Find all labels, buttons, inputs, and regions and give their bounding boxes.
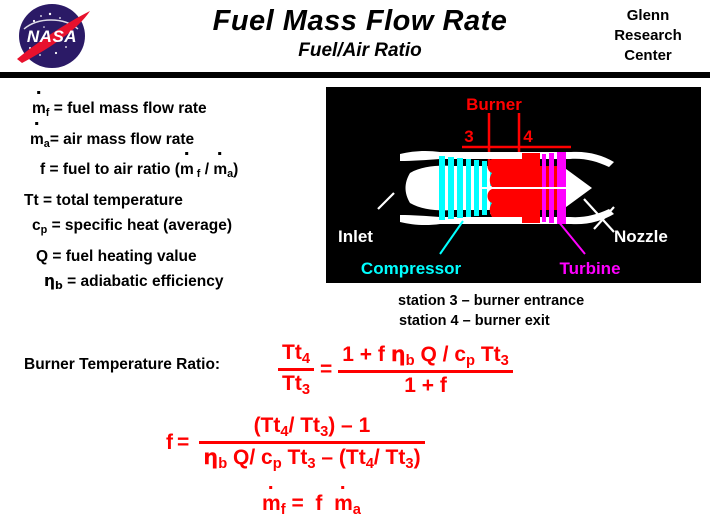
eq1-lhs-numerator: Tt4 <box>278 341 314 367</box>
turbine-leader-line <box>558 221 585 254</box>
turbojet-engine-diagram: Burner 3 4 <box>326 87 701 283</box>
station-4-label: 4 <box>523 127 533 146</box>
definition-row-f: f = fuel to air ratio (m f / ma) <box>18 157 318 188</box>
center-line-1: Glenn <box>590 6 706 26</box>
turbine-blades-lower <box>542 189 566 224</box>
burner-label: Burner <box>466 95 522 114</box>
compressor-label: Compressor <box>361 259 462 278</box>
definition-text-mdot-air: = air mass flow rate <box>50 131 194 148</box>
station-note-4: station 4 – burner exit <box>398 311 698 331</box>
symbol-mdot-air: ma <box>30 127 50 158</box>
header-divider <box>0 72 710 78</box>
definition-text-mdot-fuel: = fuel mass flow rate <box>54 100 207 117</box>
equation-fuel-mass-flow-rate: mf = f ma <box>262 492 361 518</box>
nasa-meatball-logo: NASA <box>8 3 96 69</box>
eq3-equals-sign: = <box>291 492 303 515</box>
definition-row-cp: cp = specific heat (average) <box>18 213 318 244</box>
eq2-equals-sign: = <box>177 431 189 455</box>
eq3-mdot-air-symbol: m <box>334 492 353 516</box>
station-note-3: station 3 – burner entrance <box>398 291 698 311</box>
eq1-lhs-bar <box>278 368 314 371</box>
eq2-lhs-symbol: f <box>166 431 173 455</box>
symbol-q: Q <box>36 244 48 270</box>
station-notes: station 3 – burner entrance station 4 – … <box>398 291 698 331</box>
equation-fuel-air-ratio: f = (Tt4/ Tt3) – 1 ηb Q/ cp Tt3 – (Tt4/ … <box>166 414 425 472</box>
eq1-equals-sign: = <box>320 358 332 382</box>
center-line-2: Research <box>590 26 706 46</box>
definition-text-eta: = adiabatic efficiency <box>67 273 223 290</box>
turbine-label: Turbine <box>559 259 620 278</box>
symbol-tt: Tt <box>24 188 39 214</box>
svg-text:NASA: NASA <box>27 27 77 46</box>
eq2-fraction: (Tt4/ Tt3) – 1 ηb Q/ cp Tt3 – (Tt4/ Tt3) <box>199 414 424 472</box>
eq2-bar <box>199 441 424 444</box>
eq3-mdot-fuel-symbol: m <box>262 492 281 516</box>
eq1-rhs-fraction: 1 + f ηb Q / cp Tt3 1 + f <box>338 342 513 398</box>
eq1-rhs-bar <box>338 370 513 373</box>
eq1-rhs-numerator: 1 + f ηb Q / cp Tt3 <box>338 342 513 369</box>
eq3-rhs-f: f <box>310 492 329 515</box>
symbol-eta-b: ηb <box>44 269 63 299</box>
definition-text-q: = fuel heating value <box>52 248 196 265</box>
turbine-blades-upper <box>542 152 566 187</box>
symbol-f: f <box>40 157 45 183</box>
definition-text-tt: = total temperature <box>43 192 183 209</box>
eq2-denominator: ηb Q/ cp Tt3 – (Tt4/ Tt3) <box>199 445 424 472</box>
definition-row-tt: Tt = total temperature <box>18 188 318 214</box>
eq2-numerator: (Tt4/ Tt3) – 1 <box>199 414 424 440</box>
inlet-leader-line <box>378 193 394 209</box>
definition-text-f: = fuel to air ratio (m f / ma) <box>49 161 238 178</box>
definition-text-cp: = specific heat (average) <box>52 217 233 234</box>
page-title: Fuel Mass Flow Rate <box>150 4 570 38</box>
nomenclature-list: mf = fuel mass flow rate ma= air mass fl… <box>18 96 318 299</box>
nasa-center-name: Glenn Research Center <box>590 6 706 66</box>
eq1-lhs-fraction: Tt4 Tt3 <box>278 341 314 398</box>
definition-row-eta: ηb = adiabatic efficiency <box>18 269 318 299</box>
eq1-lhs-denominator: Tt3 <box>278 372 314 398</box>
definition-row-mdot-fuel: mf = fuel mass flow rate <box>18 96 318 127</box>
title-block: Fuel Mass Flow Rate Fuel/Air Ratio <box>150 4 570 63</box>
nozzle-label: Nozzle <box>614 227 668 246</box>
inlet-label: Inlet <box>338 227 373 246</box>
definition-row-q: Q = fuel heating value <box>18 244 318 270</box>
definition-row-mdot-air: ma= air mass flow rate <box>18 127 318 158</box>
eq1-rhs-denominator: 1 + f <box>338 374 513 398</box>
equation-burner-temperature-ratio: Tt4 Tt3 = 1 + f ηb Q / cp Tt3 1 + f <box>278 341 513 398</box>
page-subtitle: Fuel/Air Ratio <box>150 39 570 63</box>
symbol-cp: cp <box>32 213 47 244</box>
station-3-label: 3 <box>464 127 473 146</box>
burner-temperature-ratio-label: Burner Temperature Ratio: <box>24 356 220 374</box>
center-line-3: Center <box>590 46 706 66</box>
page-header: NASA Fuel Mass Flow Rate Fuel/Air Ratio … <box>0 0 710 72</box>
compressor-leader-line <box>440 221 463 254</box>
